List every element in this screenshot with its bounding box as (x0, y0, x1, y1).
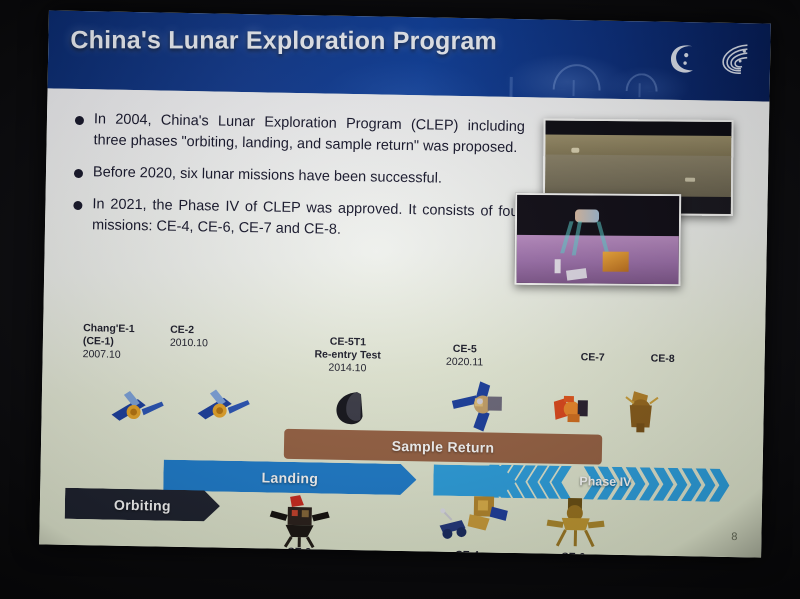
tower-icon (509, 77, 512, 97)
label-date: 2014.10 (328, 361, 366, 374)
slide-header: China's Lunar Exploration Program (48, 10, 771, 101)
ce-3-lander-icon (267, 493, 332, 550)
page-title: China's Lunar Exploration Program (70, 26, 497, 56)
slide-body: In 2004, China's Lunar Exploration Progr… (39, 88, 769, 557)
timeline-label-chang-e-1: Chang'E-1 (CE-1) 2007.10 (83, 322, 168, 362)
ce-4-lander-rover-icon (435, 492, 514, 547)
label-date: 2007.10 (83, 348, 121, 361)
cnsa-swirl-logo (716, 39, 757, 80)
antenna-mast-icon (572, 80, 574, 96)
phase-bar-sample-return[interactable]: Sample Return (284, 429, 602, 465)
label-date: 2020.11 (446, 356, 483, 369)
ce-1-orbiter-icon (107, 385, 168, 428)
phase-bar-label: Landing (262, 469, 319, 486)
label-title: CE-5T1 (330, 336, 366, 349)
ce-5t1-reentry-capsule-icon (326, 386, 371, 431)
ce-8-spacecraft-icon (619, 387, 664, 436)
label-subtitle: Re-entry Test (314, 348, 381, 361)
timeline-label-ce-7: CE-7 (563, 351, 623, 365)
label-title: CE-2 (170, 324, 194, 336)
antenna-mast-icon (638, 83, 640, 97)
ce-6-lander-icon (545, 496, 606, 551)
ce-5-sample-return-spacecraft-icon (449, 379, 516, 438)
phase-bar-label: Sample Return (392, 438, 495, 456)
timeline-label-ce-5t1: CE-5T1 Re-entry Test 2014.10 (292, 335, 403, 375)
ce-2-orbiter-icon (193, 383, 254, 426)
phase-bar-orbiting[interactable]: Orbiting (65, 488, 221, 522)
photo-of-projected-slide: China's Lunar Exploration Program (0, 0, 800, 599)
label-title: CE-8 (651, 353, 675, 365)
page-number: 8 (731, 531, 737, 543)
label-title: CE-5 (453, 343, 477, 355)
timeline-label-ce-5: CE-5 2020.11 (427, 342, 501, 369)
label-title: CE-7 (581, 351, 605, 363)
timeline-label-ce-8: CE-8 (633, 352, 693, 366)
phase-bar-label: Orbiting (114, 496, 171, 513)
logo-group (662, 38, 757, 80)
label-subtitle: (CE-1) (83, 335, 114, 348)
phase-bar-landing[interactable]: Landing (163, 460, 417, 496)
label-title: Chang'E-1 (83, 322, 135, 335)
label-date: 2010.10 (170, 336, 208, 349)
mission-timeline: Chang'E-1 (CE-1) 2007.10 CE-2 2010.10 CE… (39, 88, 769, 557)
timeline-label-ce-2: CE-2 2010.10 (170, 324, 240, 351)
presentation-slide: China's Lunar Exploration Program (39, 10, 771, 557)
ce-7-spacecraft-icon (549, 390, 596, 431)
clep-moon-logo (662, 38, 703, 79)
phase-iv-label: Phase IV (540, 474, 670, 490)
